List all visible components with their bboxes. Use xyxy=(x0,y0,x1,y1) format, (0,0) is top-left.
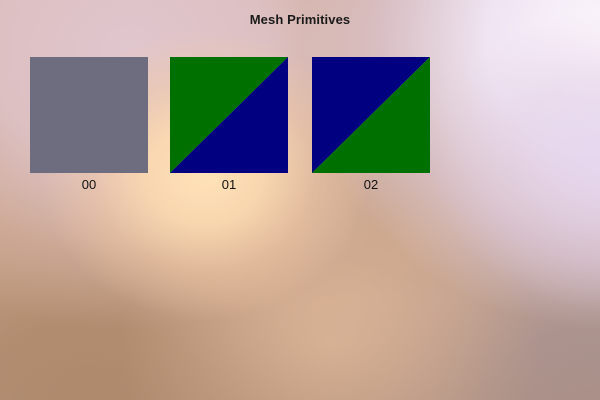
mesh-primitives-figure: Mesh Primitives 00 01 02 xyxy=(0,0,600,400)
primitive-canvas-02 xyxy=(312,57,430,173)
primitive-tile-01: 01 xyxy=(170,57,288,173)
two-triangle-quad-shape-01 xyxy=(170,57,288,173)
primitive-tile-00: 00 xyxy=(30,57,148,173)
primitive-tile-02: 02 xyxy=(312,57,430,173)
figure-title: Mesh Primitives xyxy=(0,12,600,27)
primitive-canvas-00 xyxy=(30,57,148,173)
two-triangle-quad-shape-02 xyxy=(312,57,430,173)
primitive-label-02: 02 xyxy=(282,177,460,192)
flat-quad-shape xyxy=(30,57,148,173)
primitive-canvas-01 xyxy=(170,57,288,173)
